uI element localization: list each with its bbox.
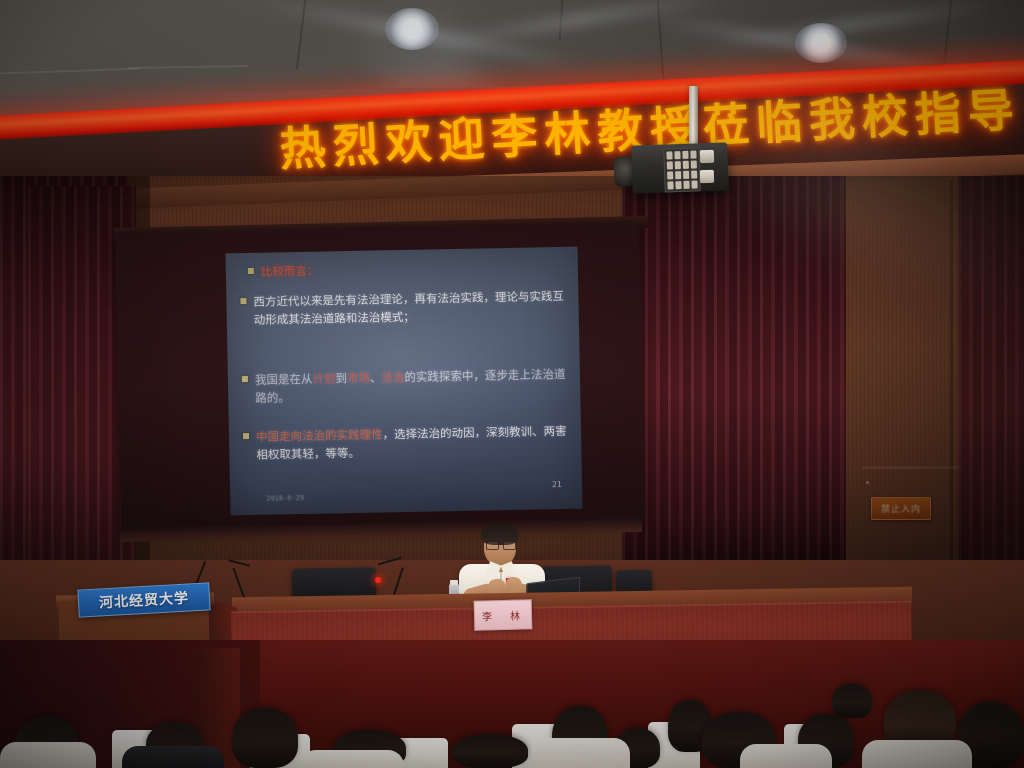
ceiling-light-icon xyxy=(385,8,439,50)
b2-red1: 计划 xyxy=(312,371,335,385)
microphone-status-light xyxy=(375,577,381,583)
slide-bullet-2-text: 我国是在从计划到市场、法治的实践探索中，逐步走上法治道路的。 xyxy=(255,365,573,407)
audience-shoulders xyxy=(534,738,630,768)
projector-indicator-icon xyxy=(700,150,714,163)
ceiling-seam xyxy=(128,65,248,69)
projector-control-panel xyxy=(663,147,701,192)
audience-shoulders xyxy=(862,740,972,768)
slide-bullet-2: 我国是在从计划到市场、法治的实践探索中，逐步走上法治道路的。 xyxy=(242,365,573,407)
stage-curtain-far-right xyxy=(958,176,1024,596)
b2-mid2: 、 xyxy=(370,370,382,384)
projector-indicator-icon xyxy=(700,170,714,183)
audience-shoulders xyxy=(0,742,96,768)
audience-head xyxy=(832,684,872,718)
slide-date-stamp: 2018-6-29 xyxy=(266,494,304,503)
b2-red2: 市场 xyxy=(347,371,370,385)
bullet-square-icon xyxy=(240,298,246,304)
glasses-icon xyxy=(503,541,516,550)
audience-shoulders xyxy=(300,750,404,768)
stage-curtain-right xyxy=(622,176,846,570)
slide-bullet-3-text: 中国走向法治的实践理性，选择法治的动因，深刻教训、两害相权取其轻，等等。 xyxy=(256,422,574,464)
ceiling-light-icon xyxy=(795,23,847,63)
b3-red-lead: 中国走向法治的实践理性 xyxy=(256,427,383,443)
wall-screw xyxy=(866,481,869,484)
slide-bullet-3: 中国走向法治的实践理性，选择法治的动因，深刻教训、两害相权取其轻，等等。 xyxy=(243,422,574,464)
slide-bullet-1: 西方近代以来是先有法治理论，再有法治实践，理论与实践互动形成其法治道路和法治模式… xyxy=(240,287,567,329)
slide-bullet-1-text: 西方近代以来是先有法治理论，再有法治实践，理论与实践互动形成其法治道路和法治模式… xyxy=(253,287,567,329)
audience-head xyxy=(232,708,298,768)
bullet-square-icon xyxy=(243,433,249,439)
speaker-name-card-text: 李 林 xyxy=(482,607,524,623)
b2-red3: 法治 xyxy=(381,370,404,384)
b2-pre: 我国是在从 xyxy=(255,372,313,387)
university-name-plate-text: 河北经贸大学 xyxy=(99,588,190,613)
ceiling-seam xyxy=(296,0,307,70)
bullet-square-icon xyxy=(248,268,254,274)
ceiling-seam xyxy=(0,68,140,75)
ceiling-seam xyxy=(657,0,665,92)
lecture-hall-photo: 热烈欢迎李林教授莅临我校指导 禁止入内 比较而言： 西方近代以来是先有法治理论，… xyxy=(0,0,1024,768)
water-bottle-cap xyxy=(450,580,458,585)
wall-warning-sign: 禁止入内 xyxy=(871,497,931,520)
slide-title: 比较而言： xyxy=(261,262,319,281)
glasses-icon xyxy=(486,541,499,550)
wall-seam xyxy=(950,180,953,600)
wall-warning-sign-text: 禁止入内 xyxy=(881,502,921,515)
audience-head xyxy=(452,734,528,768)
b2-mid1: 到 xyxy=(335,371,347,385)
slide-page-number: 21 xyxy=(552,480,562,489)
bullet-square-icon xyxy=(242,376,248,382)
projected-slide: 比较而言： 西方近代以来是先有法治理论，再有法治实践，理论与实践互动形成其法治道… xyxy=(226,247,583,516)
audience-shoulders xyxy=(122,746,224,768)
speaker-name-card: 李 林 xyxy=(474,599,533,631)
ceiling-seam xyxy=(559,0,564,40)
slide-title-row: 比较而言： xyxy=(248,257,568,281)
audience-shoulders xyxy=(740,744,832,768)
